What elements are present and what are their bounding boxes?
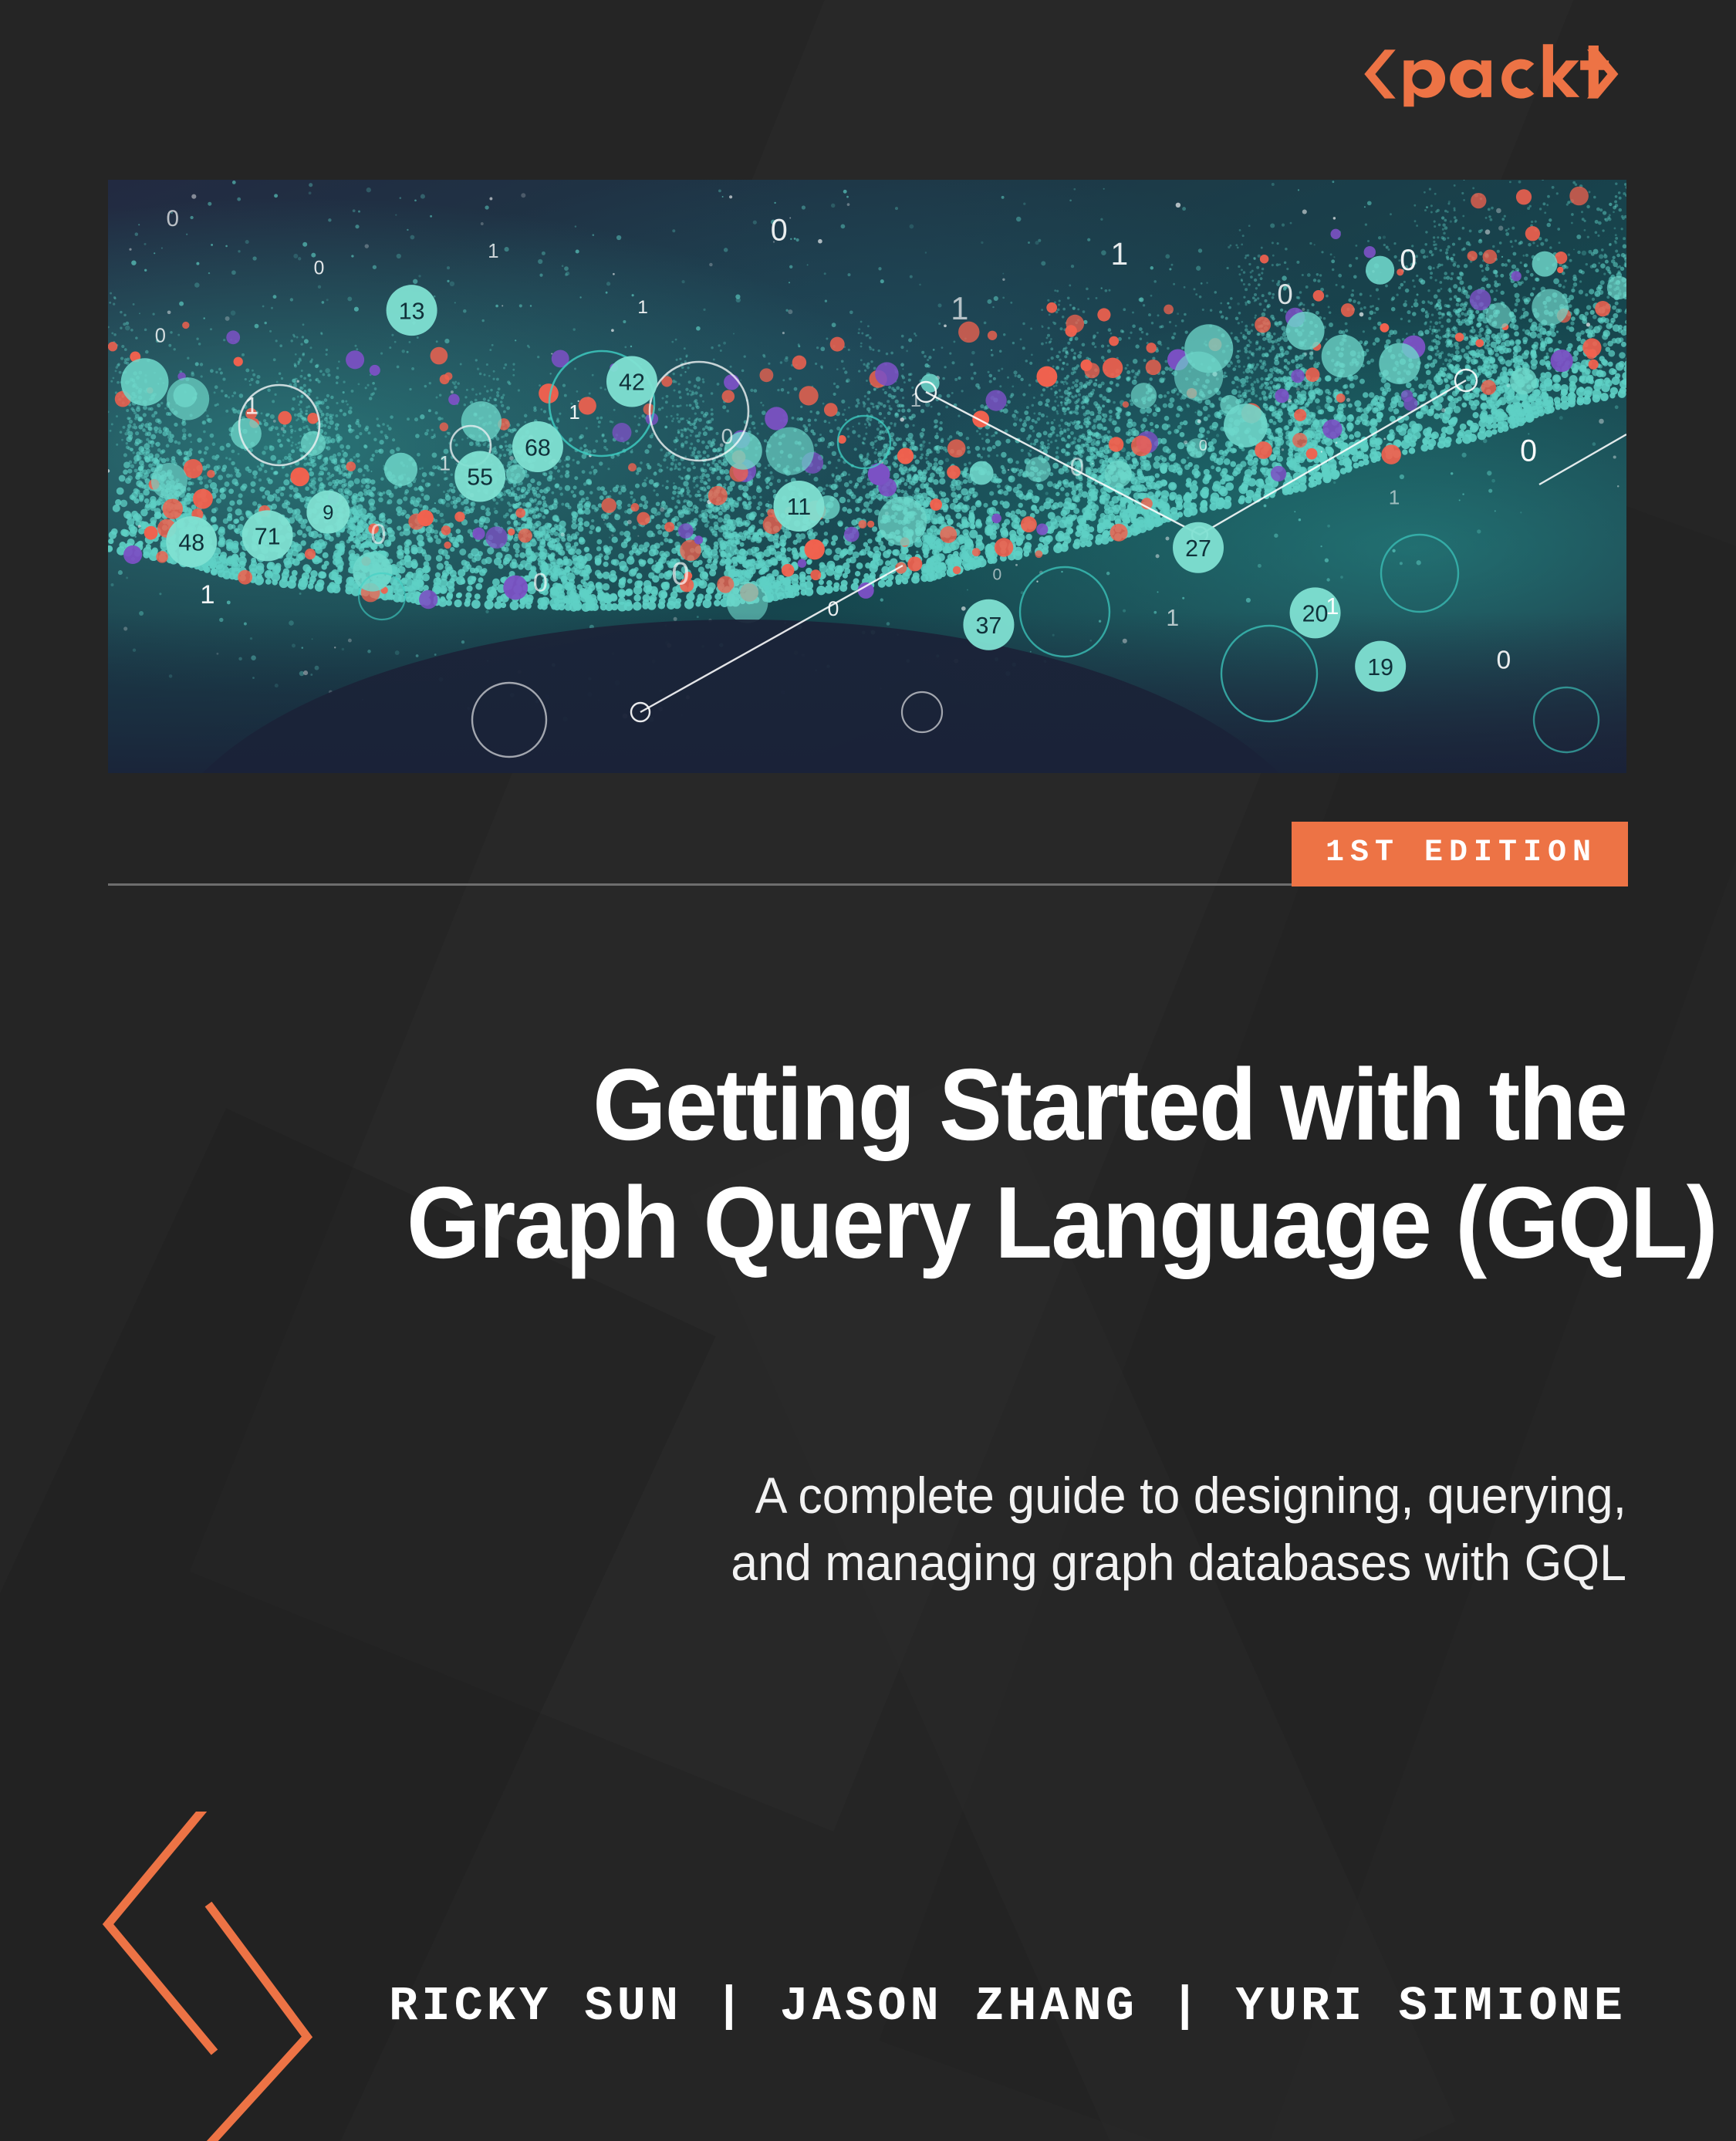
- binary-digit: 1: [245, 393, 258, 420]
- numbered-node: 11: [773, 481, 824, 532]
- binary-digit: 0: [771, 213, 788, 247]
- binary-digit: 1: [1111, 236, 1129, 272]
- binary-digit: 1: [439, 452, 451, 475]
- numbered-node: 68: [512, 421, 563, 472]
- binary-digit: 0: [828, 597, 839, 620]
- title-line-2: Graph Query Language (GQL): [407, 1163, 1626, 1282]
- binary-digit: 0: [167, 206, 180, 231]
- numbered-node: 19: [1355, 641, 1406, 692]
- binary-digit: 1: [951, 290, 968, 326]
- binary-digit: 1: [1166, 606, 1179, 631]
- subtitle-line-1: A complete guide to designing, querying,: [380, 1462, 1626, 1529]
- binary-digit: 0: [671, 556, 689, 592]
- hero-artwork: 48719135568421137272019 0101100101010010…: [108, 180, 1626, 773]
- binary-digit: 1: [637, 297, 648, 318]
- binary-digit: 1: [1326, 593, 1339, 620]
- numbered-node: 55: [454, 451, 505, 502]
- binary-digit: 0: [533, 568, 548, 597]
- title-line-1: Getting Started with the: [407, 1045, 1626, 1163]
- numbered-node: 13: [387, 285, 437, 336]
- double-chevron-icon: [100, 1812, 332, 2141]
- binary-digit: 0: [1520, 434, 1537, 468]
- subtitle-line-2: and managing graph databases with GQL: [380, 1529, 1626, 1596]
- binary-digit: 0: [370, 518, 386, 550]
- double-chevron-mark: [100, 1812, 332, 2141]
- numbered-node: 27: [1173, 522, 1224, 573]
- binary-digit: 0: [1199, 437, 1207, 454]
- binary-digit: 0: [1497, 646, 1511, 675]
- numbered-node: 48: [166, 516, 217, 567]
- numbered-node: 71: [242, 510, 293, 561]
- numbered-node: 37: [963, 599, 1014, 650]
- binary-digit: 0: [155, 325, 166, 346]
- numbered-node: 9: [306, 491, 350, 534]
- binary-digit: 1: [569, 402, 579, 424]
- binary-digit: 0: [1400, 244, 1417, 277]
- numbered-node: 42: [606, 356, 657, 407]
- binary-digit: 1: [200, 580, 214, 610]
- graph-particle-wave-artwork: 48719135568421137272019 0101100101010010…: [108, 180, 1626, 773]
- book-title: Getting Started with the Graph Query Lan…: [315, 1045, 1626, 1282]
- book-subtitle: A complete guide to designing, querying,…: [315, 1462, 1626, 1596]
- binary-digit: 0: [1277, 279, 1292, 310]
- binary-digit: 0: [993, 566, 1002, 584]
- binary-digit: 1: [1389, 485, 1400, 508]
- edition-badge: 1ST EDITION: [1292, 822, 1628, 886]
- binary-digit: 1: [488, 239, 498, 262]
- packt-logo: [1355, 40, 1626, 108]
- author-line: RICKY SUN | JASON ZHANG | YURI SIMIONE: [389, 1983, 1626, 2031]
- binary-digit: 0: [721, 424, 734, 448]
- binary-digit: 0: [314, 258, 325, 279]
- binary-digit: 1: [910, 390, 921, 411]
- binary-digit: 0: [1070, 454, 1085, 482]
- packt-wordmark-icon: [1355, 40, 1626, 108]
